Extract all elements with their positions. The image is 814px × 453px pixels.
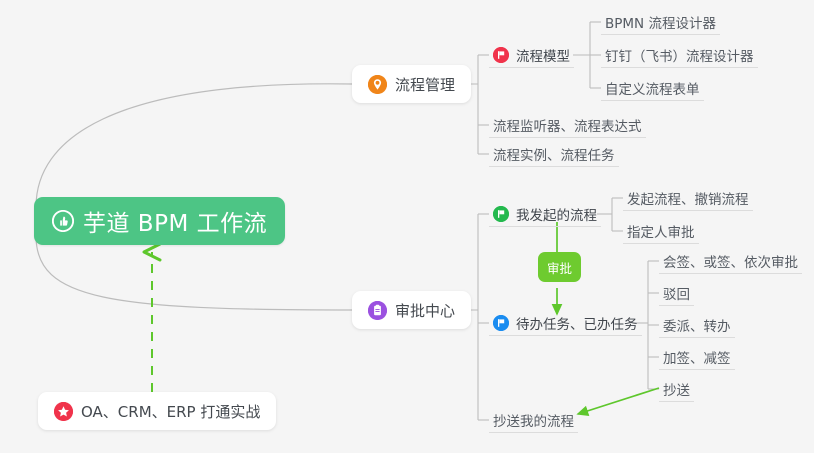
arrow-cc-to-cc-my-process: [578, 388, 659, 414]
branch-process-management[interactable]: 流程管理: [352, 65, 471, 103]
tag-approval-label: 审批: [547, 258, 572, 277]
connector-root-to-process-management: [36, 84, 352, 207]
tag-approval[interactable]: 审批: [538, 252, 581, 282]
leaf-delegate-transfer[interactable]: 委派、转办: [659, 312, 735, 338]
node-process-instance[interactable]: 流程实例、流程任务: [489, 141, 619, 167]
clipboard-icon: [368, 301, 387, 320]
branch-approval-center[interactable]: 审批中心: [352, 291, 471, 329]
flag-icon-green: [493, 206, 509, 222]
branch-approval-center-label: 审批中心: [395, 300, 455, 321]
node-my-initiated-label: 我发起的流程: [516, 204, 597, 224]
node-process-listener-label: 流程监听器、流程表达式: [493, 115, 642, 135]
root-node[interactable]: 芋道 BPM 工作流: [34, 197, 285, 245]
connector-root-to-approval-center: [36, 236, 352, 310]
leaf-cc-label: 抄送: [663, 379, 690, 399]
leaf-dingtalk-designer[interactable]: 钉钉（飞书）流程设计器: [601, 42, 758, 68]
thumbs-up-icon: [52, 210, 74, 232]
star-icon: [54, 402, 73, 421]
node-todo-done-tasks[interactable]: 待办任务、已办任务: [489, 310, 642, 336]
node-process-model[interactable]: 流程模型: [489, 42, 574, 68]
node-todo-done-tasks-label: 待办任务、已办任务: [516, 313, 638, 333]
leaf-custom-form[interactable]: 自定义流程表单: [601, 75, 704, 101]
node-process-instance-label: 流程实例、流程任务: [493, 144, 615, 164]
leaf-bpmn-designer-label: BPMN 流程设计器: [605, 12, 716, 32]
branch-process-management-label: 流程管理: [395, 74, 455, 95]
node-my-initiated[interactable]: 我发起的流程: [489, 201, 601, 227]
leaf-cc[interactable]: 抄送: [659, 376, 694, 402]
leaf-reject[interactable]: 驳回: [659, 280, 694, 306]
leaf-countersign[interactable]: 会签、或签、依次审批: [659, 248, 802, 274]
leaf-bpmn-designer[interactable]: BPMN 流程设计器: [601, 9, 720, 35]
leaf-start-cancel-process[interactable]: 发起流程、撤销流程: [623, 185, 753, 211]
mindmap-canvas: 芋道 BPM 工作流 OA、CRM、ERP 打通实战 流程管理: [0, 0, 814, 453]
node-cc-my-process[interactable]: 抄送我的流程: [489, 407, 578, 433]
root-label: 芋道 BPM 工作流: [83, 204, 267, 238]
leaf-custom-form-label: 自定义流程表单: [605, 78, 700, 98]
leaf-assignee-approval-label: 指定人审批: [627, 221, 695, 241]
node-process-model-label: 流程模型: [516, 45, 570, 65]
free-node-label: OA、CRM、ERP 打通实战: [81, 401, 260, 422]
lightbulb-pin-icon: [368, 75, 387, 94]
leaf-countersign-label: 会签、或签、依次审批: [663, 251, 798, 271]
leaf-assignee-approval[interactable]: 指定人审批: [623, 218, 699, 244]
leaf-add-remove-sign-label: 加签、减签: [663, 347, 731, 367]
node-process-listener[interactable]: 流程监听器、流程表达式: [489, 112, 646, 138]
leaf-add-remove-sign[interactable]: 加签、减签: [659, 344, 735, 370]
flag-icon-blue: [493, 315, 509, 331]
leaf-start-cancel-process-label: 发起流程、撤销流程: [627, 188, 749, 208]
flag-icon-red: [493, 47, 509, 63]
node-cc-my-process-label: 抄送我的流程: [493, 410, 574, 430]
leaf-delegate-transfer-label: 委派、转办: [663, 315, 731, 335]
leaf-dingtalk-designer-label: 钉钉（飞书）流程设计器: [605, 45, 754, 65]
free-node-integration[interactable]: OA、CRM、ERP 打通实战: [38, 392, 276, 430]
leaf-reject-label: 驳回: [663, 283, 690, 303]
